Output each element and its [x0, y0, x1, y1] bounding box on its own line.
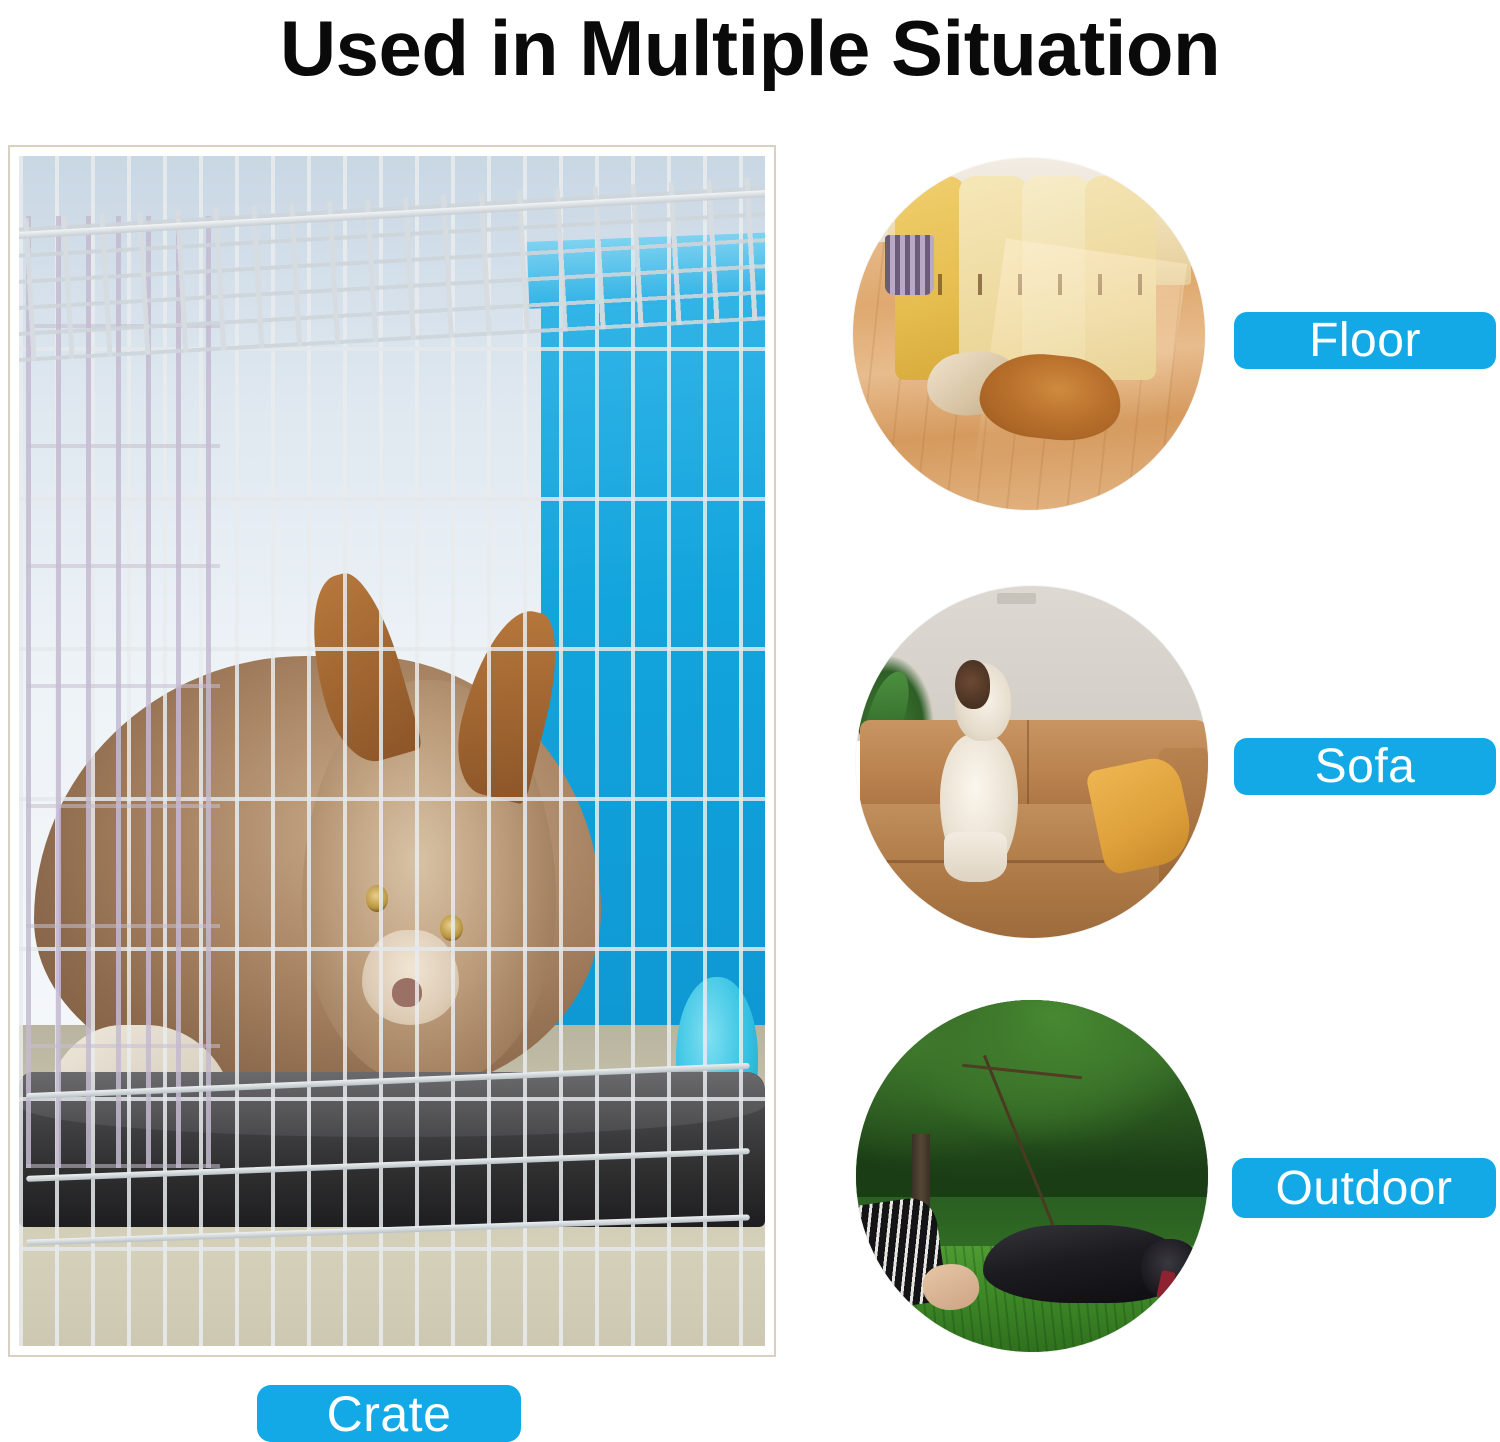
infographic-root: Used in Multiple Situation	[0, 0, 1500, 1442]
sofa-scene-dog-legs	[944, 832, 1007, 881]
floor-scene-planter	[885, 235, 934, 295]
label-badge-crate[interactable]: Crate	[257, 1385, 521, 1442]
page-title: Used in Multiple Situation	[0, 0, 1500, 96]
situation-photo-floor	[853, 158, 1205, 510]
crate-photo	[19, 156, 765, 1346]
outdoor-scene-tree-canopy	[856, 1000, 1208, 1197]
label-badge-sofa[interactable]: Sofa	[1234, 738, 1496, 795]
sofa-scene-dog-curls	[955, 660, 990, 709]
label-badge-outdoor[interactable]: Outdoor	[1232, 1158, 1496, 1218]
situation-photo-outdoor	[856, 1000, 1208, 1352]
label-badge-floor[interactable]: Floor	[1234, 312, 1496, 369]
crate-photo-frame	[8, 145, 776, 1357]
situation-photo-sofa	[856, 586, 1208, 938]
sofa-scene-wall-vent	[997, 593, 1036, 604]
